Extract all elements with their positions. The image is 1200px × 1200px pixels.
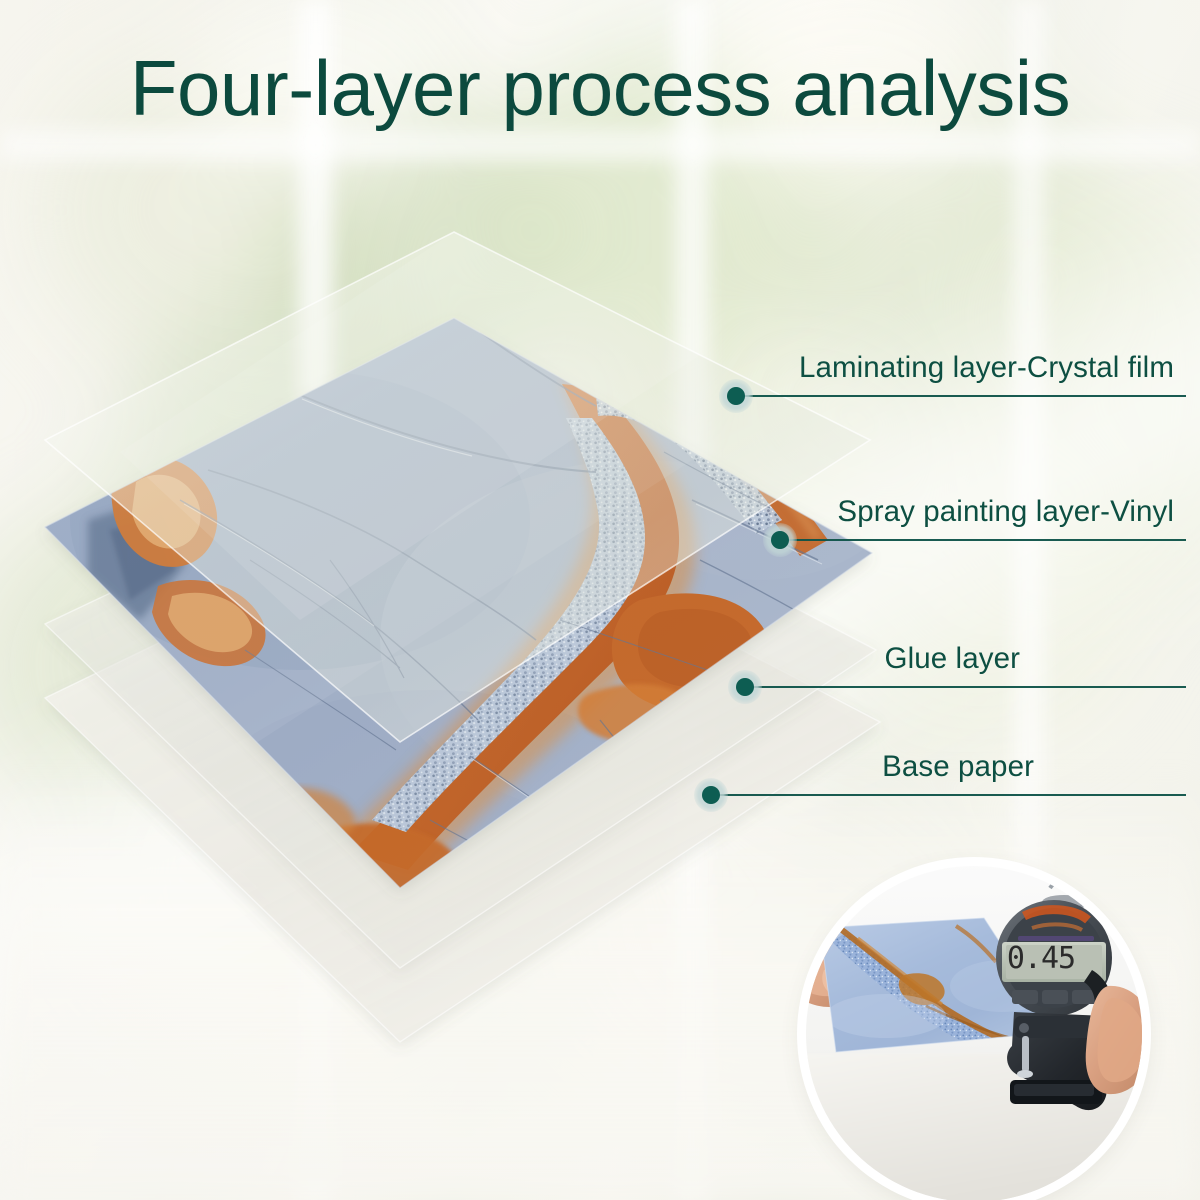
callout-leader-line <box>711 794 1186 796</box>
callout-label-glue: Glue layer <box>885 642 1020 676</box>
inset-illustration <box>806 866 1142 1200</box>
callout-dot-icon <box>771 531 789 549</box>
infographic-canvas: Four-layer process analysis <box>0 0 1200 1200</box>
gauge-reading: 0.45 <box>1002 942 1080 976</box>
thickness-measurement-inset: 0.45 <box>806 866 1142 1200</box>
callout-dot-icon <box>702 786 720 804</box>
callout-dot-icon <box>727 387 745 405</box>
callout-spray-painting: Spray painting layer-Vinyl <box>780 540 1186 541</box>
callout-leader-line <box>780 539 1186 541</box>
callout-dot-icon <box>736 678 754 696</box>
callout-leader-line <box>745 686 1186 688</box>
callout-leader-line <box>736 395 1186 397</box>
callout-glue: Glue layer <box>745 687 1186 688</box>
callout-label-spray-painting: Spray painting layer-Vinyl <box>837 495 1174 529</box>
callout-laminating: Laminating layer-Crystal film <box>736 396 1186 397</box>
callout-label-base-paper: Base paper <box>882 750 1034 784</box>
callout-base-paper: Base paper <box>711 795 1186 796</box>
callout-label-laminating: Laminating layer-Crystal film <box>799 351 1174 385</box>
